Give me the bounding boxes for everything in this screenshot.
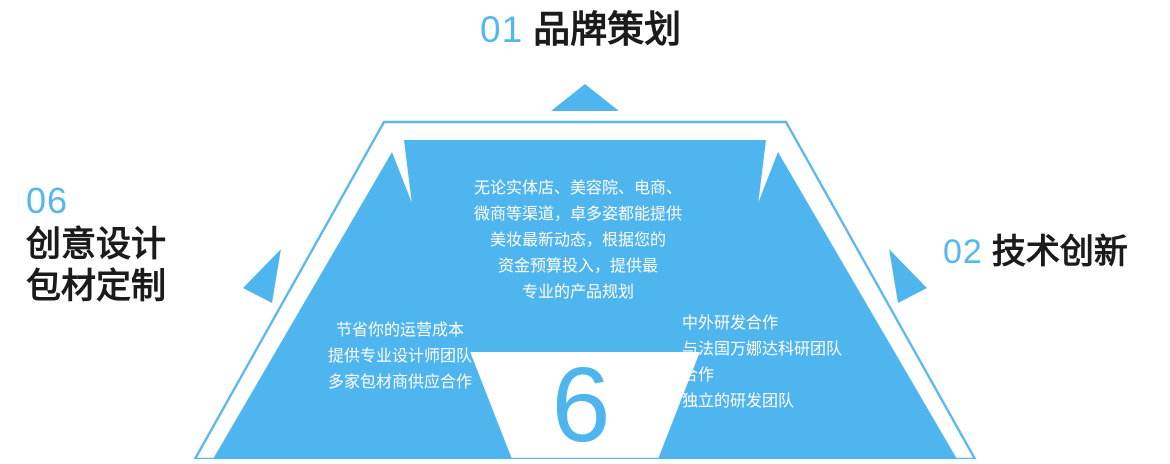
label-right-02: 02技术创新 bbox=[943, 232, 1128, 272]
label-left-06: 06 创意设计 包材定制 bbox=[26, 180, 166, 307]
label-left-caption-line-1: 创意设计 bbox=[26, 224, 166, 265]
bottom-left-panel-line: 节省你的运营成本 bbox=[300, 318, 500, 344]
bottom-left-panel-line: 提供专业设计师团队 bbox=[300, 344, 500, 370]
arrow-up-left-icon bbox=[243, 249, 281, 303]
arrow-up-right-icon bbox=[889, 249, 927, 303]
label-right-number: 02 bbox=[943, 233, 983, 271]
label-right-caption: 技术创新 bbox=[992, 233, 1128, 271]
label-top-caption: 品牌策划 bbox=[533, 9, 681, 50]
bottom-right-panel-text: 中外研发合作 与法国万娜达科研团队 合作 独立的研发团队 bbox=[682, 311, 902, 415]
big-numeral-6: 6 bbox=[521, 352, 641, 458]
center-panel-line: 微商等渠道，卓多姿都能提供 bbox=[443, 202, 713, 228]
center-panel-text: 无论实体店、美容院、电商、 微商等渠道，卓多姿都能提供 美妆最新动态，根据您的 … bbox=[443, 176, 713, 306]
bottom-right-panel-line: 独立的研发团队 bbox=[682, 389, 902, 415]
bottom-right-panel-line: 与法国万娜达科研团队 bbox=[682, 337, 902, 363]
center-panel-line: 美妆最新动态，根据您的 bbox=[443, 228, 713, 254]
bottom-right-panel-line: 中外研发合作 bbox=[682, 311, 902, 337]
label-top-01: 01品牌策划 bbox=[480, 8, 681, 52]
bottom-right-panel-line: 合作 bbox=[682, 363, 902, 389]
label-left-caption-line-2: 包材定制 bbox=[26, 266, 166, 307]
bottom-left-panel-line: 多家包材商供应合作 bbox=[300, 370, 500, 396]
center-panel-line: 资金预算投入，提供最 bbox=[443, 254, 713, 280]
center-panel-line: 专业的产品规划 bbox=[443, 280, 713, 306]
infographic-canvas: 01品牌策划 02技术创新 06 创意设计 包材定制 无论实体店、美容院、电商、… bbox=[0, 0, 1170, 459]
label-top-number: 01 bbox=[480, 9, 523, 50]
center-panel-line: 无论实体店、美容院、电商、 bbox=[443, 176, 713, 202]
arrow-up-icon bbox=[551, 84, 619, 111]
bottom-left-panel-text: 节省你的运营成本 提供专业设计师团队 多家包材商供应合作 bbox=[300, 318, 500, 396]
label-left-number: 06 bbox=[26, 180, 166, 222]
